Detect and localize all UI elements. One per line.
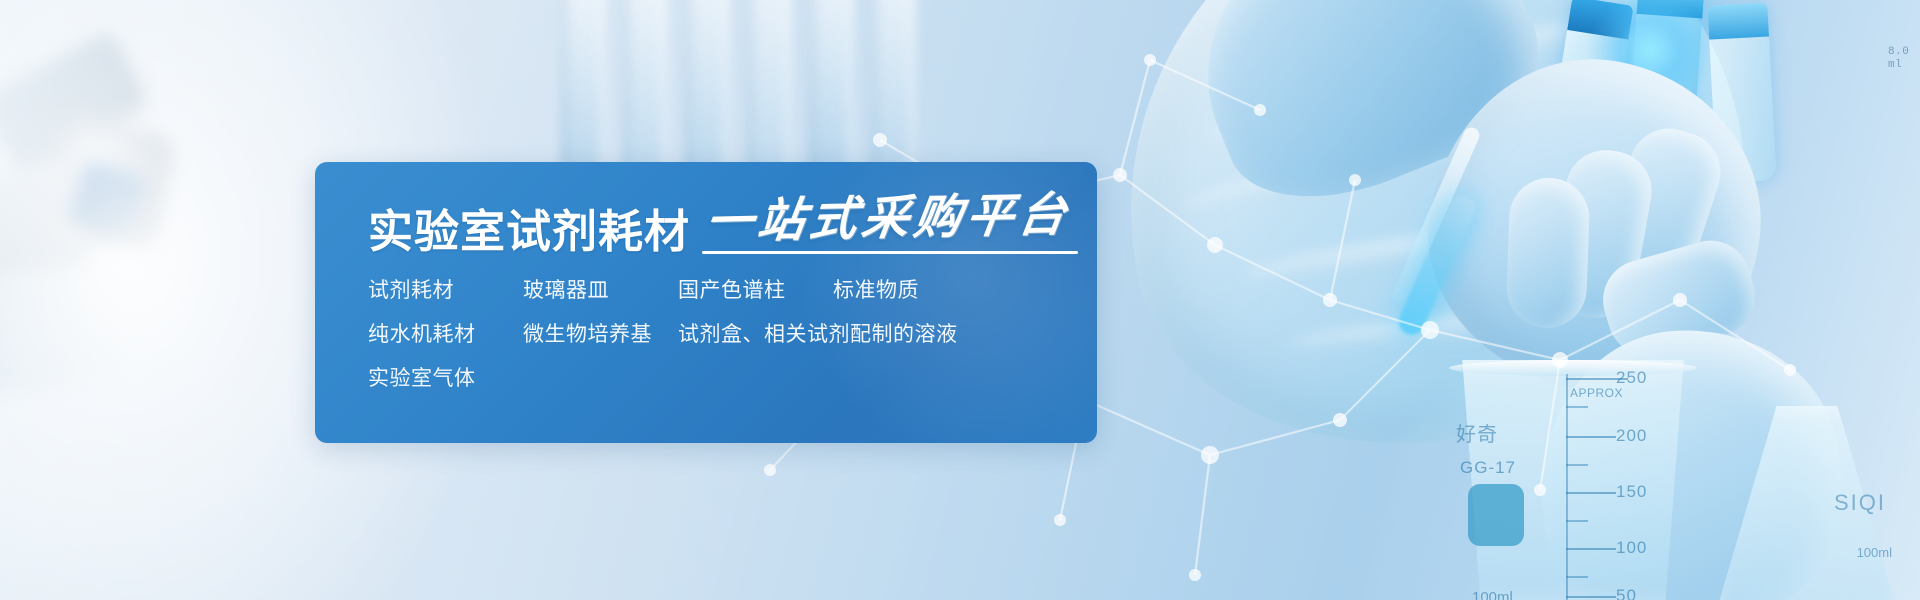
beaker-volume: 100ml [1472,589,1513,600]
headline-underline [702,251,1078,254]
category-item-reagent-consumables[interactable]: 试剂耗材 [368,279,523,302]
category-item-microbial-culture-media[interactable]: 微生物培养基 [523,323,678,346]
beaker-graduation-100: 100 [1616,538,1647,558]
category-item-laboratory-gases[interactable]: 实验室气体 [368,367,523,390]
flask-volume: 100ml [1857,545,1892,560]
headline-script-text: 一站式采购平台 [702,192,1074,247]
promo-card: 实验室试剂耗材 一站式采购平台 试剂耗材 玻璃器皿 国产色谱柱 标准物质 纯水机… [315,162,1097,443]
beaker-graduation-200: 200 [1616,426,1647,446]
beaker-label-patch [1468,484,1524,546]
headline-main-text: 实验室试剂耗材 [368,209,690,254]
headline: 实验室试剂耗材 一站式采购平台 [368,196,1070,254]
graduated-beaker: 250 APPROX 200 150 100 50 好奇 GG-17 100ml [1438,360,1708,600]
beaker-graduation-150: 150 [1616,482,1647,502]
vacutainer-label-volume: 8.0 ml [1888,46,1914,72]
beaker-approx-label: APPROX [1570,386,1623,400]
category-item-glassware[interactable]: 玻璃器皿 [523,279,678,302]
category-row: 试剂耗材 玻璃器皿 国产色谱柱 标准物质 [368,279,1058,302]
beaker-graduation-250: 250 [1616,368,1647,388]
category-item-domestic-chromatography-column[interactable]: 国产色谱柱 [678,279,833,302]
category-row: 纯水机耗材 微生物培养基 试剂盒、相关试剂配制的溶液 [368,323,1058,346]
beaker-code: GG-17 [1460,458,1516,478]
beaker-brand: 好奇 [1456,418,1498,447]
category-item-water-purifier-consumables[interactable]: 纯水机耗材 [368,323,523,346]
category-item-reagent-kits-solutions[interactable]: 试剂盒、相关试剂配制的溶液 [678,323,958,346]
category-list: 试剂耗材 玻璃器皿 国产色谱柱 标准物质 纯水机耗材 微生物培养基 试剂盒、相关… [368,279,1058,390]
flask-brand: SIQI [1834,490,1886,516]
beaker-graduation-50: 50 [1616,586,1637,600]
headline-script-wrap: 一站式采购平台 [706,196,1070,254]
category-item-reference-materials[interactable]: 标准物质 [833,279,919,302]
gloved-hands-scene: 8.0 ml 250 APPROX 200 150 100 [1040,0,1920,600]
lab-supplies-banner: 8.0 ml 250 APPROX 200 150 100 [0,0,1920,600]
category-row: 实验室气体 [368,367,1058,390]
